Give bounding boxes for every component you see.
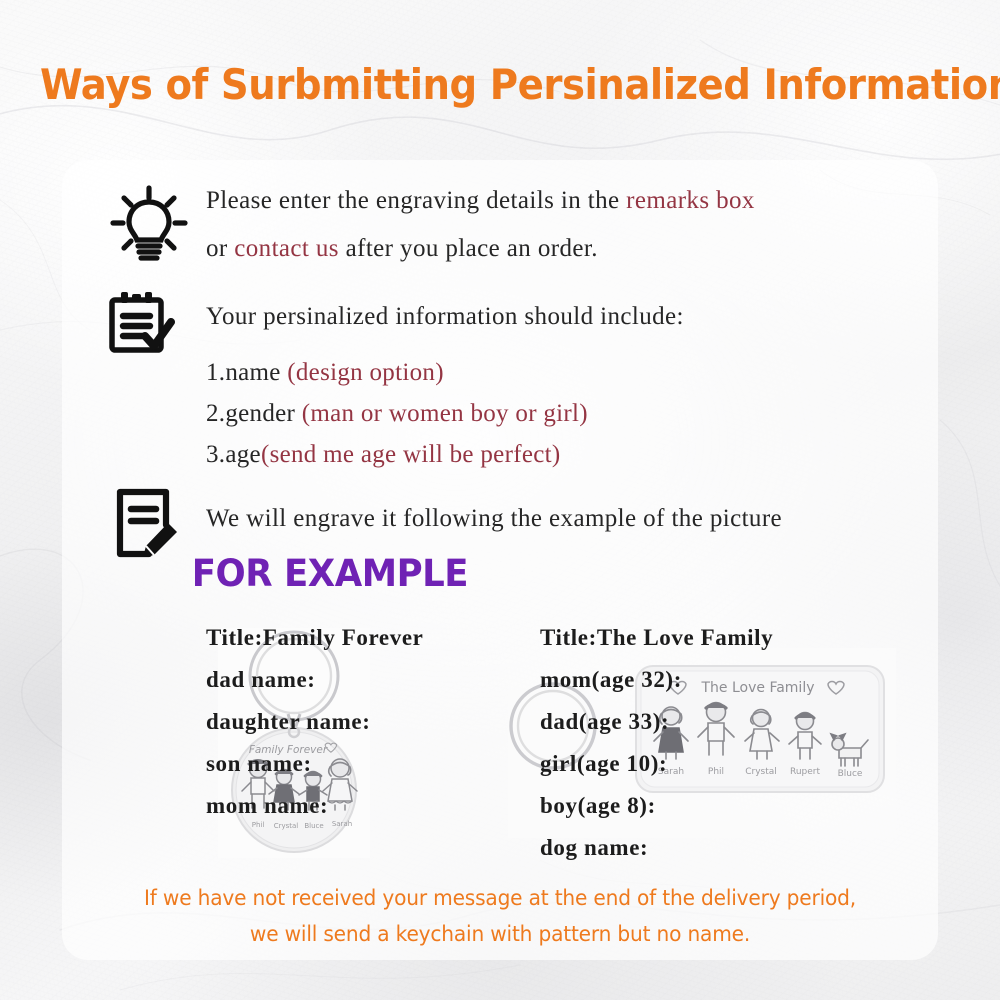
example-field: daughter name: — [206, 709, 423, 735]
footer-note-line-2: we will send a keychain with pattern but… — [20, 916, 980, 952]
tip-text-block: Please enter the engraving details in th… — [206, 187, 755, 263]
footer-note-line-1: If we have not received your message at … — [20, 880, 980, 916]
clipboard-check-icon — [103, 292, 175, 363]
example-field: son name: — [206, 751, 423, 777]
contact-us-highlight[interactable]: contact us — [234, 235, 339, 262]
tip-line-2: or contact us after you place an order. — [206, 235, 755, 263]
example-field: girl(age 10): — [540, 751, 773, 777]
list-item-label: 3.age — [206, 441, 261, 468]
product-photo-round-keychain: Family Forever — [218, 628, 370, 858]
tip-line-2-lead: or — [206, 235, 234, 262]
example-field: dog name: — [540, 835, 773, 861]
document-pencil-icon — [113, 487, 181, 566]
list-item-note: (design option) — [287, 359, 444, 386]
tip-line-2-tail: after you place an order. — [339, 235, 598, 262]
example-field: dad(age 33): — [540, 709, 773, 735]
example-title: Title:The Love Family — [540, 625, 773, 651]
svg-text:Crystal: Crystal — [274, 822, 299, 830]
example-field: mom name: — [206, 793, 423, 819]
engrave-text: We will engrave it following the example… — [206, 505, 782, 533]
svg-text:Bluce: Bluce — [304, 822, 323, 830]
svg-text:Sarah: Sarah — [332, 820, 352, 828]
list-item-label: 1.name — [206, 359, 287, 386]
tip-line-1-lead: Please enter the engraving details in th… — [206, 187, 626, 214]
example-field: boy(age 8): — [540, 793, 773, 819]
page-title: Ways of Surbmitting Persinalized Informa… — [40, 60, 960, 109]
list-item-label: 2.gender — [206, 400, 302, 427]
checklist-block: Your persinalized information should inc… — [206, 303, 684, 469]
remarks-box-highlight: remarks box — [626, 187, 755, 214]
tip-line-1: Please enter the engraving details in th… — [206, 187, 755, 215]
footer-note: If we have not received your message at … — [20, 880, 980, 952]
example-field: mom(age 32): — [540, 667, 773, 693]
list-item-note: (man or women boy or girl) — [302, 400, 588, 427]
list-item: 2.gender (man or women boy or girl) — [206, 400, 684, 428]
svg-text:Bluce: Bluce — [838, 769, 863, 779]
svg-text:Phil: Phil — [252, 821, 265, 829]
for-example-heading: FOR EXAMPLE — [192, 552, 468, 595]
svg-text:Rupert: Rupert — [790, 767, 821, 777]
poster-root: Ways of Surbmitting Persinalized Informa… — [0, 0, 1000, 1000]
list-item-note: (send me age will be perfect) — [261, 441, 561, 468]
list-item: 3.age(send me age will be perfect) — [206, 441, 684, 469]
checklist-items: 1.name (design option) 2.gender (man or … — [206, 359, 684, 469]
checklist-heading: Your persinalized information should inc… — [206, 303, 684, 331]
example-field: dad name: — [206, 667, 423, 693]
lightbulb-icon — [107, 182, 191, 271]
example-title: Title:Family Forever — [206, 625, 423, 651]
list-item: 1.name (design option) — [206, 359, 684, 387]
